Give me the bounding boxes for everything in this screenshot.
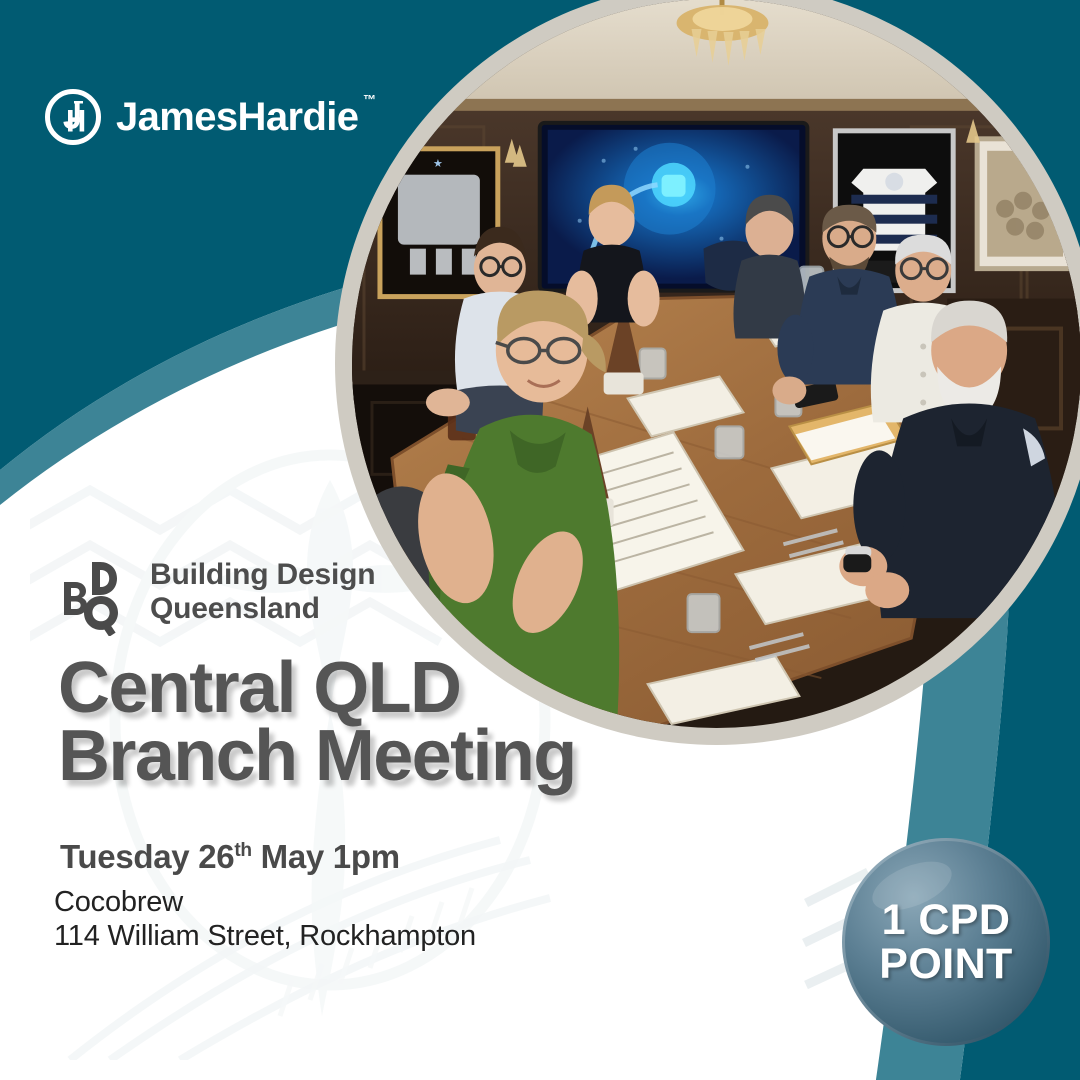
sponsor-name-text: JamesHardie xyxy=(116,95,358,139)
sponsor-name: JamesHardie ™ xyxy=(116,97,358,137)
cpd-badge-text: 1 CPD POINT xyxy=(840,836,1052,1048)
cpd-badge-line1: 1 CPD xyxy=(882,898,1011,942)
page-title: Central QLD Branch Meeting xyxy=(58,655,576,790)
trademark-symbol: ™ xyxy=(363,93,375,106)
cpd-badge: 1 CPD POINT xyxy=(840,836,1052,1048)
event-date: Tuesday 26th May 1pm xyxy=(60,838,400,876)
event-venue: Cocobrew xyxy=(54,886,183,919)
event-date-ordinal: th xyxy=(234,840,251,861)
event-date-rest: May 1pm xyxy=(252,838,400,875)
event-address: 114 William Street, Rockhampton xyxy=(54,920,476,953)
bdq-monogram-icon xyxy=(62,548,134,636)
organisation-logo: Building Design Queensland xyxy=(62,548,375,636)
organisation-name-line1: Building Design xyxy=(150,558,375,592)
photo-illustration: ★ xyxy=(352,0,1080,728)
jh-monogram-icon xyxy=(44,88,102,146)
organisation-name: Building Design Queensland xyxy=(150,558,375,626)
svg-text:★: ★ xyxy=(433,158,443,170)
cpd-badge-line2: POINT xyxy=(879,942,1012,986)
event-photo: ★ xyxy=(335,0,1080,745)
event-date-day: Tuesday 26 xyxy=(60,838,234,875)
sponsor-logo: JamesHardie ™ xyxy=(44,88,358,146)
poster-canvas: ★ xyxy=(0,0,1080,1080)
organisation-name-line2: Queensland xyxy=(150,592,375,626)
